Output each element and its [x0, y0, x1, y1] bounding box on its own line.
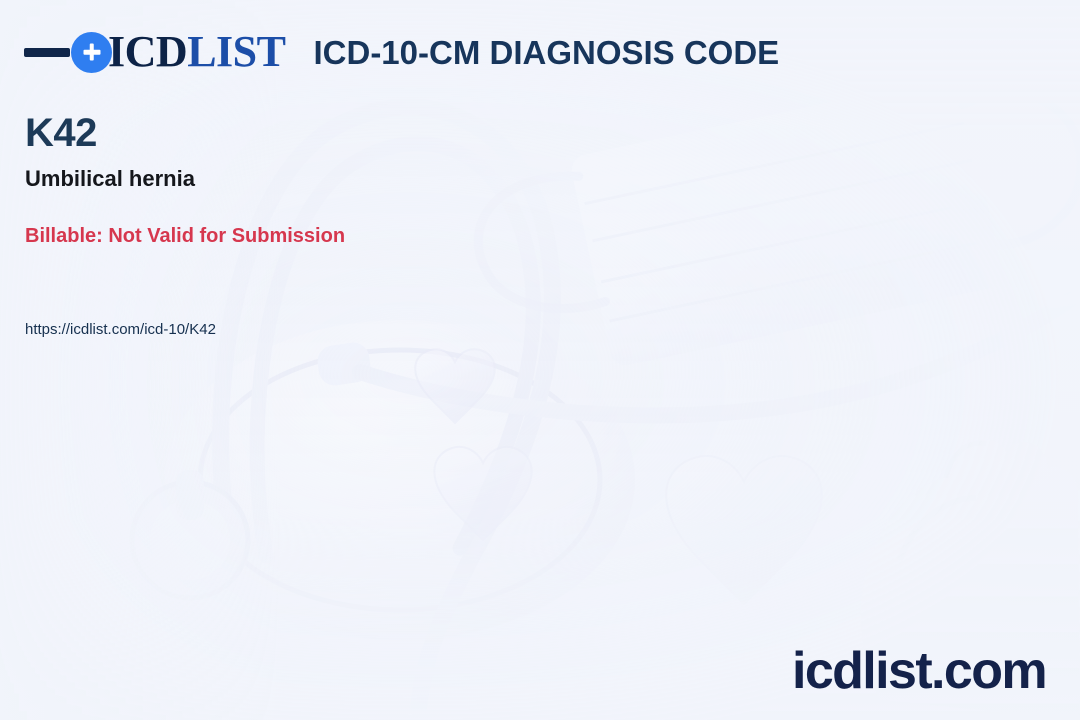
background-left-fade — [0, 0, 1080, 720]
icd-code-card: ICDLIST ICD-10-CM DIAGNOSIS CODE K42 Umb… — [0, 0, 1080, 720]
source-url[interactable]: https://icdlist.com/icd-10/K42 — [25, 321, 216, 339]
diagnosis-code: K42 — [25, 112, 97, 154]
plus-circle-icon — [71, 32, 112, 73]
footer-brand: icdlist.com — [792, 645, 1046, 697]
page-title: ICD-10-CM DIAGNOSIS CODE — [313, 36, 779, 69]
diagnosis-description: Umbilical hernia — [25, 166, 195, 192]
billable-status: Billable: Not Valid for Submission — [25, 224, 345, 248]
logo-wordmark-icd: ICD — [108, 27, 187, 76]
icdlist-logo[interactable]: ICDLIST — [24, 24, 285, 80]
logo-wordmark-list: LIST — [187, 27, 285, 76]
page-header: ICDLIST ICD-10-CM DIAGNOSIS CODE — [24, 24, 779, 80]
logo-wordmark: ICDLIST — [108, 30, 285, 74]
background-medical-photo — [0, 0, 1080, 720]
background-wash-overlay — [0, 0, 1080, 720]
dash-icon — [24, 48, 70, 57]
